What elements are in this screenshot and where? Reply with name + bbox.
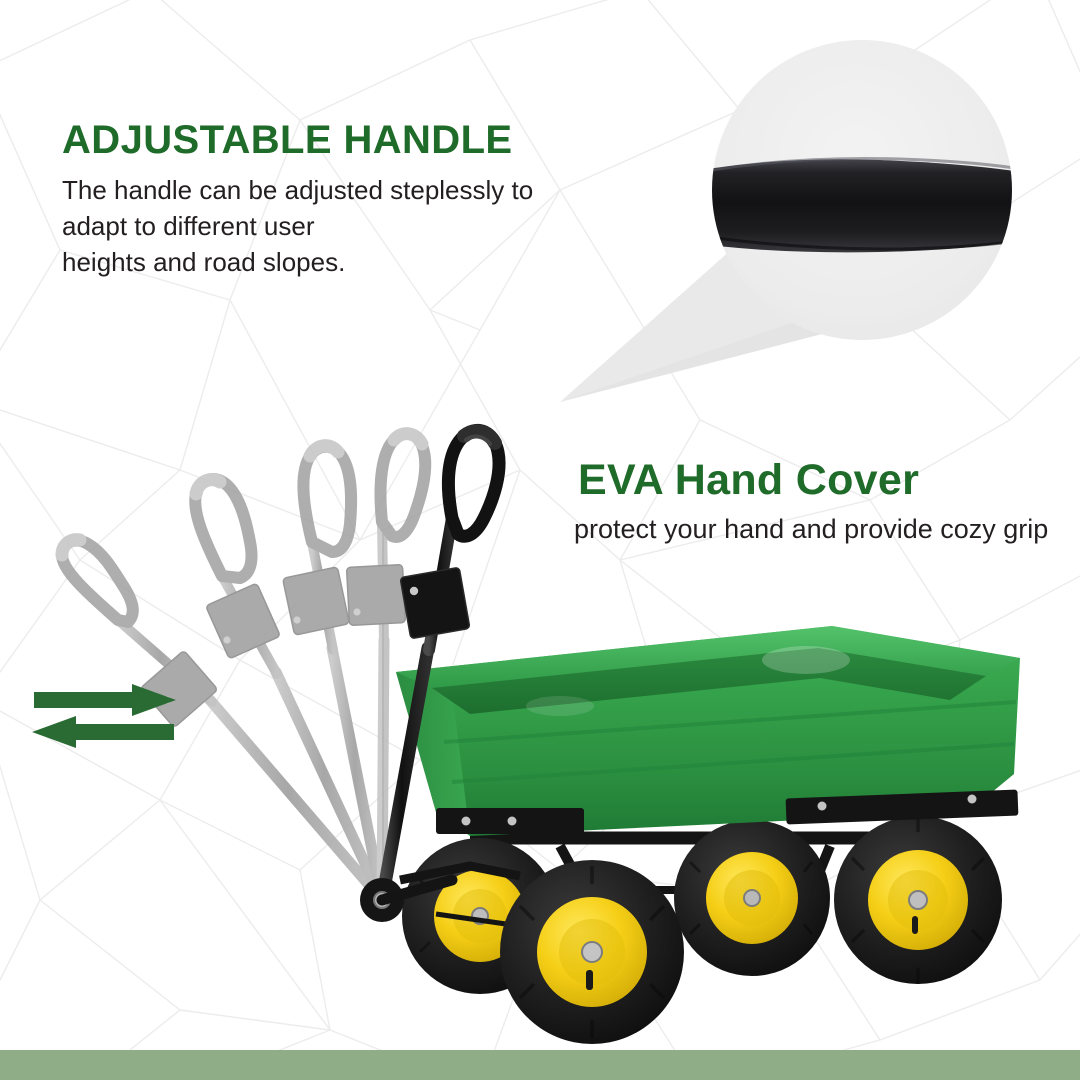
wheel-rear-near xyxy=(834,816,1002,984)
wheel-front-near xyxy=(500,860,684,1044)
adjustable-handle-title: ADJUSTABLE HANDLE xyxy=(62,119,513,161)
adjustable-handle-description: The handle can be adjusted steplessly to… xyxy=(62,172,533,280)
eva-hand-cover-description: protect your hand and provide cozy grip xyxy=(574,513,1048,547)
handle-ghost-positions xyxy=(62,434,425,900)
bottom-color-band xyxy=(0,1050,1080,1080)
eva-hand-cover-title: EVA Hand Cover xyxy=(578,458,919,503)
bidirectional-adjust-arrows xyxy=(32,684,176,748)
cart-tub xyxy=(396,626,1020,836)
wheel-rear-far xyxy=(674,820,830,976)
handle-ghost-3 xyxy=(283,446,382,900)
handle-ghost-2 xyxy=(195,479,382,900)
infographic-canvas: ADJUSTABLE HANDLE The handle can be adju… xyxy=(0,0,1080,1080)
handle-ghost-4 xyxy=(347,434,426,900)
